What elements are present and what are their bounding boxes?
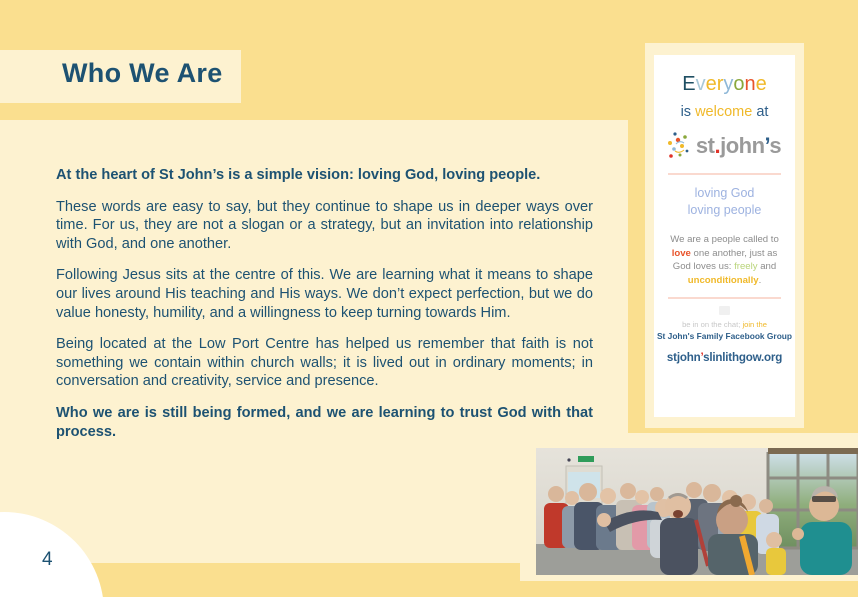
blurb-seg-3: and (758, 261, 777, 272)
photo-illustration (536, 448, 858, 575)
congregation-photo (536, 448, 858, 575)
poster-logo-row: st.john’s (654, 131, 795, 161)
welcome-suffix: at (752, 104, 768, 120)
blurb-love: love (672, 248, 691, 259)
welcome-word: welcome (695, 104, 752, 120)
body-text-block: At the heart of St John’s is a simple vi… (56, 166, 593, 441)
blurb-unconditionally: unconditionally (688, 275, 759, 286)
url-part-2: slinlithgow.org (703, 351, 782, 364)
photo-frame (520, 433, 858, 581)
poster-tagline: loving God loving people (654, 185, 795, 219)
background-bottom-white-strip (0, 597, 858, 612)
poster-divider-top (668, 173, 781, 175)
logo-wordmark: st.john’s (668, 133, 781, 158)
page-number: 4 (42, 549, 53, 571)
paragraph-1: At the heart of St John’s is a simple vi… (56, 166, 593, 185)
blurb-seg-4: . (759, 275, 762, 286)
headline-letter-7: e (756, 73, 767, 95)
chat-join-link[interactable]: join the (742, 320, 767, 329)
headline-letter-2: e (706, 73, 717, 95)
welcome-poster: Everyone is welcome at (654, 55, 795, 417)
slide-canvas: Who We Are At the heart of St John’s is … (0, 0, 858, 612)
poster-frame: Everyone is welcome at (645, 43, 804, 428)
url-part-1: stjohn (667, 351, 701, 364)
paragraph-3: Following Jesus sits at the centre of th… (56, 266, 593, 322)
headline-letter-4: y (723, 73, 733, 95)
blurb-seg-1: We are a people called to (670, 234, 779, 245)
page-title: Who We Are (62, 58, 223, 89)
headline-letter-5: o (733, 73, 744, 95)
logo-john: john (720, 133, 764, 158)
poster-divider-bottom (668, 297, 781, 299)
headline-letter-1: v (696, 73, 706, 95)
tagline-line-1: loving God (654, 185, 795, 202)
logo-s: s (769, 133, 781, 158)
headline-letter-0: E (682, 73, 695, 95)
poster-website-url[interactable]: stjohn’slinlithgow.org (654, 351, 795, 364)
tagline-line-2: loving people (654, 202, 795, 219)
poster-chat-line: be in on the chat; join the (654, 320, 795, 330)
poster-headline-everyone: Everyone (654, 74, 795, 94)
paragraph-4: Being located at the Low Port Centre has… (56, 335, 593, 391)
poster-blurb: We are a people called to love one anoth… (668, 233, 781, 287)
poster-welcome-line: is welcome at (654, 105, 795, 120)
welcome-prefix: is (681, 104, 696, 120)
paragraph-5: Who we are is still being formed, and we… (56, 404, 593, 441)
headline-letter-6: n (745, 73, 756, 95)
placeholder-image-icon (719, 306, 730, 315)
logo-st: st (696, 133, 715, 158)
poster-facebook-group[interactable]: St John's Family Facebook Group (654, 331, 795, 342)
blurb-freely: freely (734, 261, 757, 272)
paragraph-2: These words are easy to say, but they co… (56, 198, 593, 254)
chat-prefix: be in on the chat; (682, 320, 742, 329)
